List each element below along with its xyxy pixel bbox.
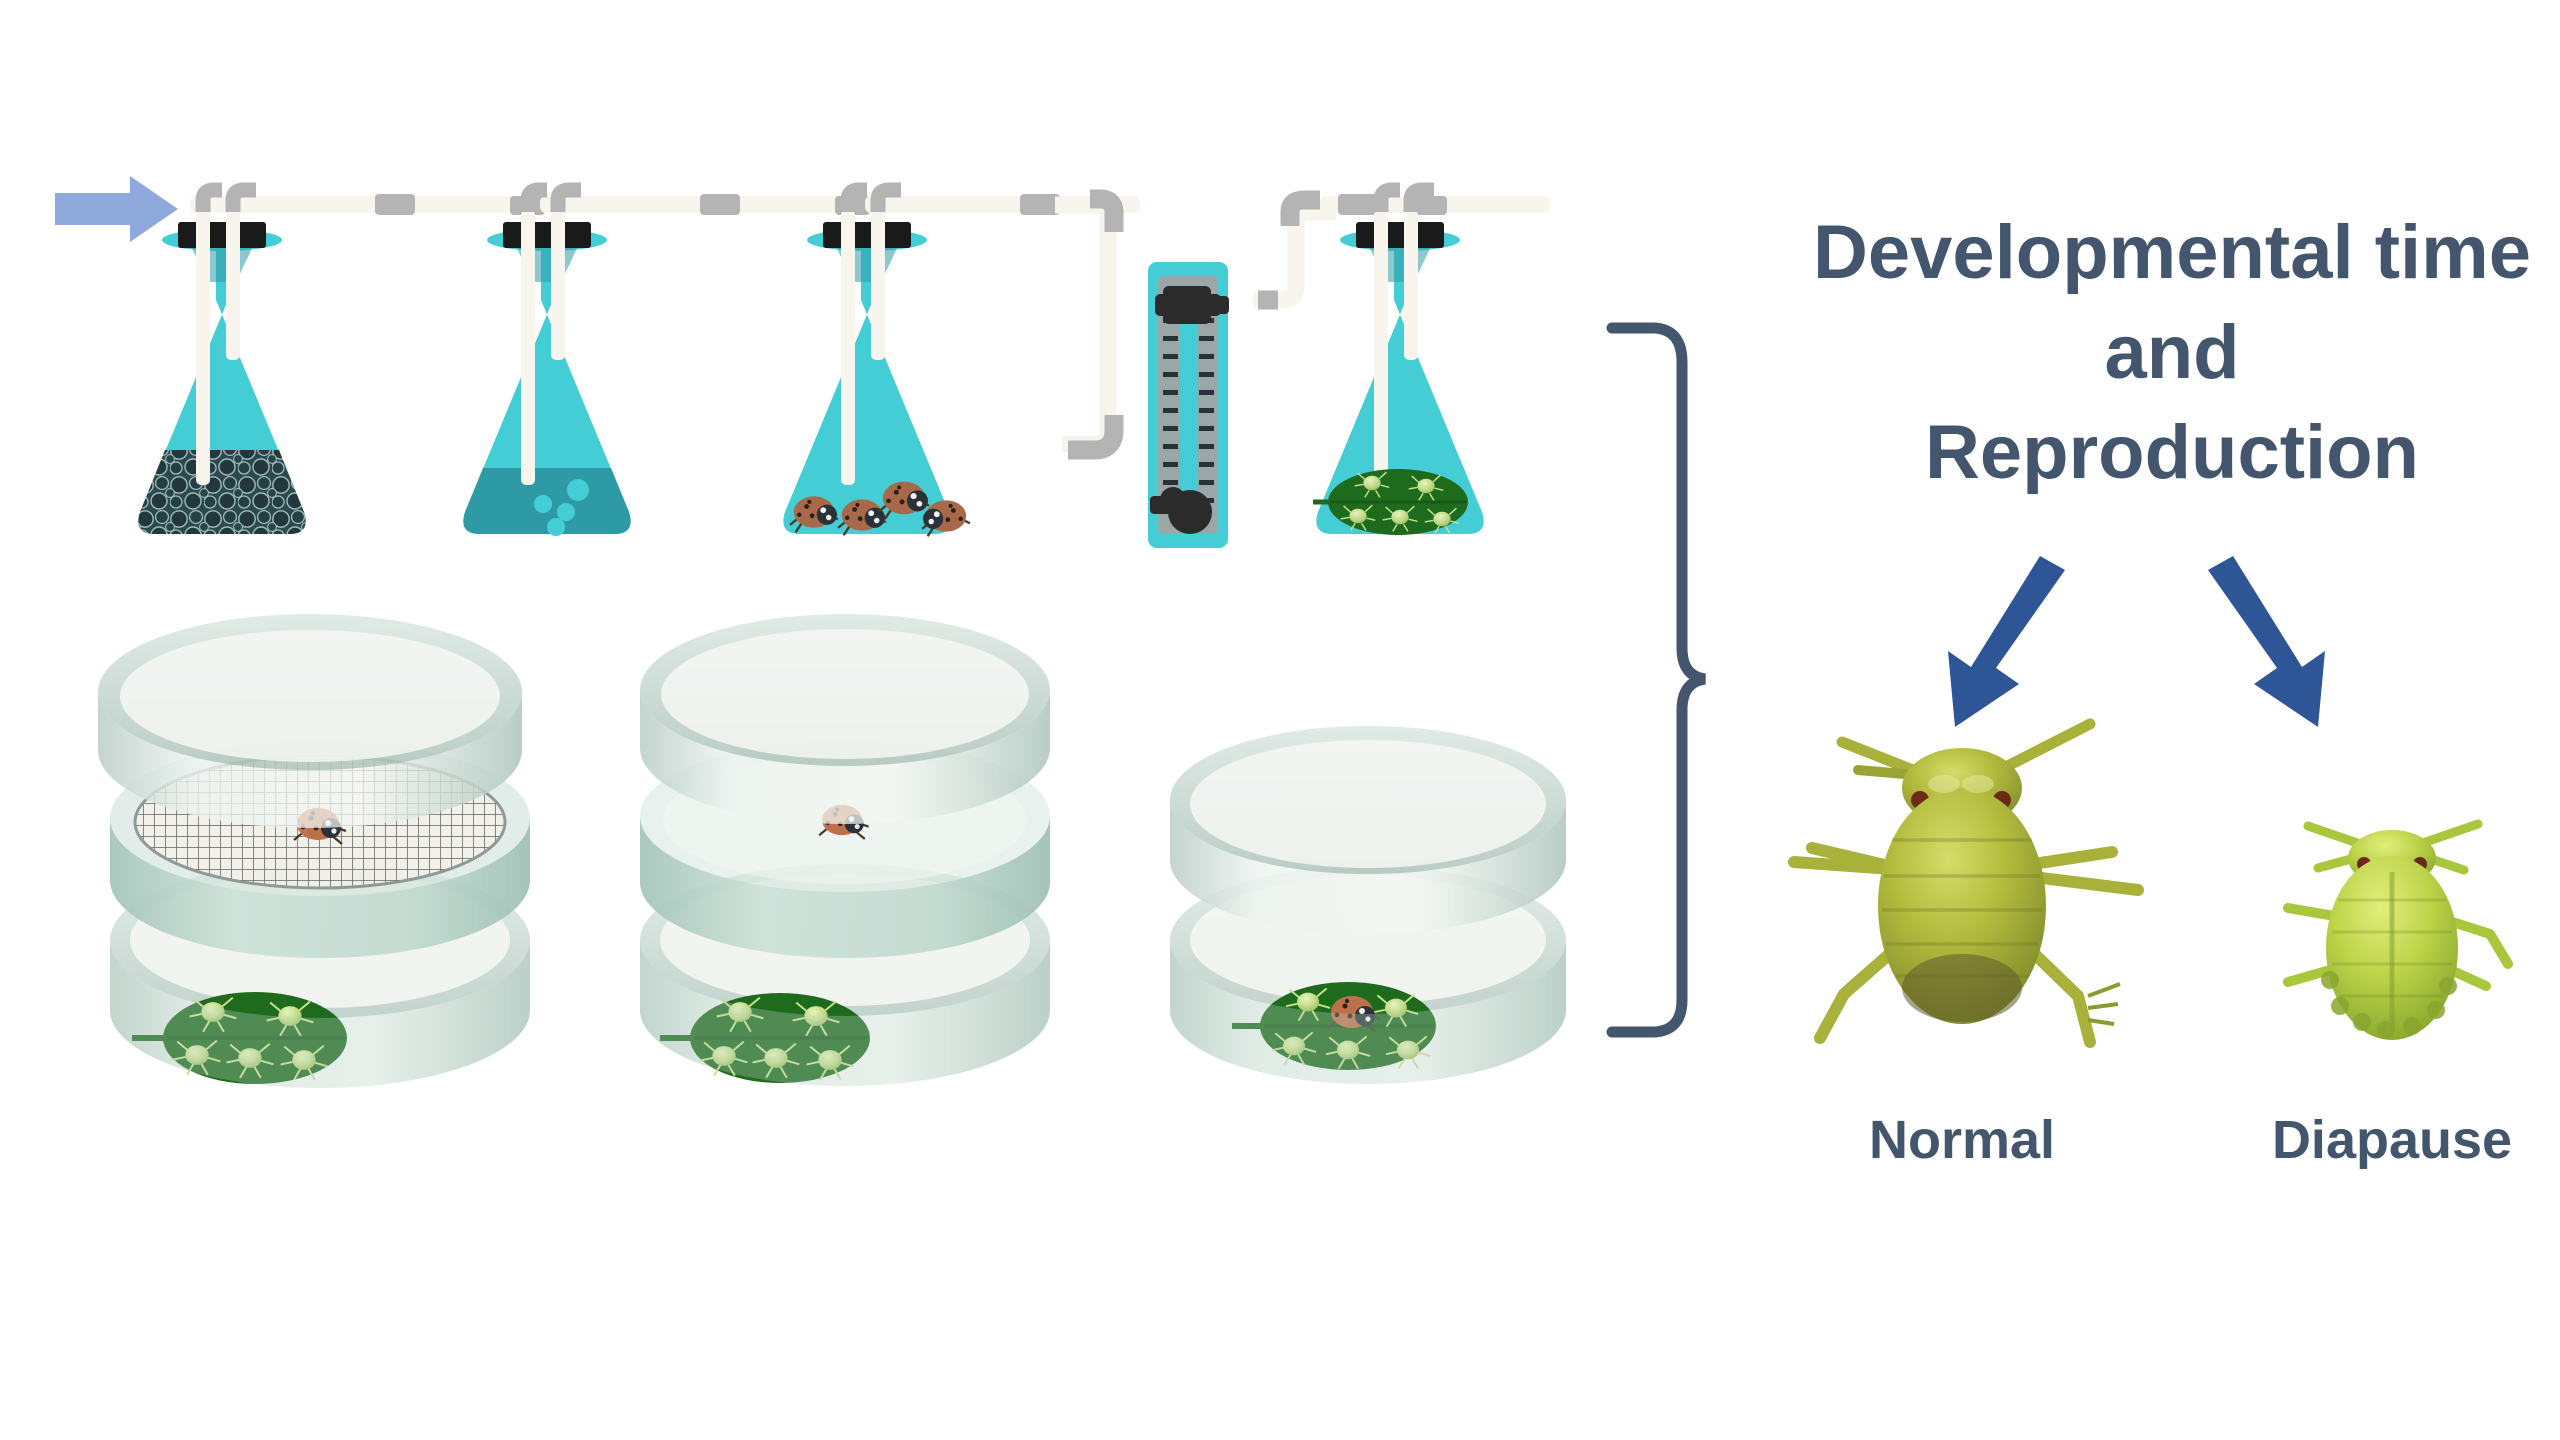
petri-assembly-3 (1170, 726, 1566, 1084)
specimen-diapause-photo (2288, 824, 2508, 1040)
petri-lid[interactable] (1170, 726, 1566, 934)
flow-meter[interactable] (1148, 262, 1229, 548)
flask-1-granules (137, 190, 306, 534)
petri-assembly-1 (98, 614, 530, 1088)
split-arrow-normal (1948, 556, 2065, 727)
flask-3-ladybirds (783, 190, 970, 536)
page-title-line-3: Reproduction (1925, 410, 2419, 495)
petri-lid[interactable] (640, 614, 1050, 824)
specimen-diapause-label: Diapause (2272, 1110, 2512, 1170)
flask-4-aphid-leaf (1313, 190, 1484, 535)
page-title-line-1: Developmental time (1813, 210, 2531, 295)
gas-inlet-arrow (55, 176, 178, 242)
diagram-canvas: Normal Diapause Developmental time and R… (0, 0, 2560, 1440)
page-title-line-2: and (2104, 310, 2239, 395)
petri-assembly-2 (640, 614, 1050, 1086)
grouping-brace (1612, 328, 1705, 1032)
flask-2-liquid (463, 190, 630, 536)
experimental-design-figure: Normal Diapause Developmental time and R… (0, 0, 2560, 1440)
split-arrow-diapause (2208, 556, 2325, 727)
specimen-normal-photo (1794, 724, 2138, 1042)
petri-lid[interactable] (98, 614, 522, 828)
specimen-normal-label: Normal (1869, 1110, 2055, 1170)
